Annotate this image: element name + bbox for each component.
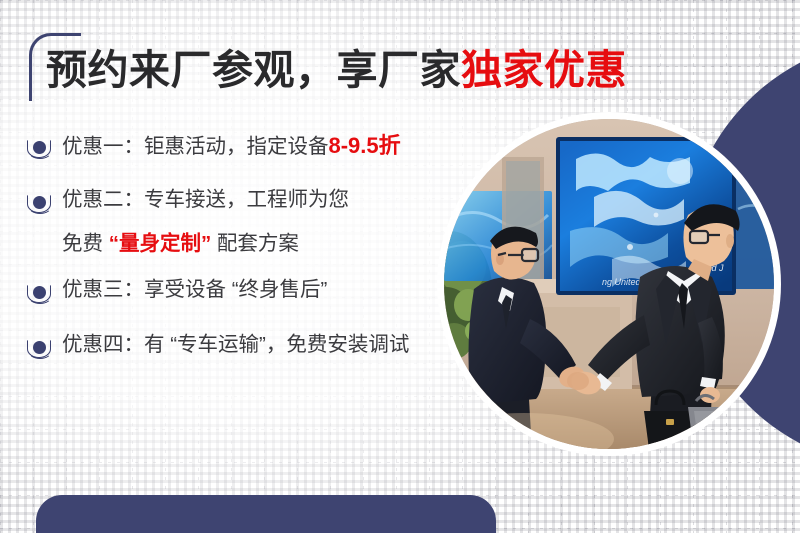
list-item-text: 优惠三：享受设备 “终身售后” <box>62 279 498 301</box>
promo-poster: ng United ited J <box>0 0 800 533</box>
eye-bullet-icon <box>28 338 54 364</box>
benefit-2-accent: “量身定制” <box>109 232 212 255</box>
benefit-1-accent: 8-9.5折 <box>329 133 401 158</box>
list-item-text: 优惠四：有 “专车运输”，免费安装调试 <box>62 334 498 356</box>
list-item: 优惠一：钜惠活动，指定设备8-9.5折 <box>28 134 498 164</box>
list-item-text: 优惠一：钜惠活动，指定设备8-9.5折 <box>62 134 498 158</box>
benefit-4-line1: 优惠四：有 “专车运输”，免费安装调试 <box>62 333 409 356</box>
list-item-text: 优惠二：专车接送，工程师为您 免费 “量身定制” 配套方案 <box>62 189 498 254</box>
title-plain-text: 预约来厂参观，享厂家 <box>46 47 461 93</box>
title-accent-text: 独家优惠 <box>461 47 627 93</box>
screen-caption-left: ng United <box>602 277 642 287</box>
benefit-1-line1: 优惠一：钜惠活动，指定设备 <box>62 135 329 158</box>
benefit-2-line2: 免费 “量身定制” 配套方案 <box>62 233 498 255</box>
list-item: 优惠三：享受设备 “终身售后” <box>28 279 498 309</box>
benefit-2-line1: 优惠二：专车接送，工程师为您 <box>62 188 349 211</box>
eye-bullet-icon <box>28 193 54 219</box>
benefit-2-line2-tail: 配套方案 <box>211 232 299 255</box>
benefits-list: 优惠一：钜惠活动，指定设备8-9.5折 优惠二：专车接送，工程师为您 免费 “量… <box>28 134 498 389</box>
list-item: 优惠二：专车接送，工程师为您 免费 “量身定制” 配套方案 <box>28 189 498 254</box>
bottom-navy-bar <box>36 495 496 533</box>
page-title: 预约来厂参观，享厂家独家优惠 <box>46 48 627 92</box>
list-item: 优惠四：有 “专车运输”，免费安装调试 <box>28 334 498 364</box>
benefit-2-line2-plain: 免费 <box>62 232 109 255</box>
benefit-3-line1: 优惠三：享受设备 “终身售后” <box>62 278 327 301</box>
eye-bullet-icon <box>28 138 54 164</box>
eye-bullet-icon <box>28 283 54 309</box>
